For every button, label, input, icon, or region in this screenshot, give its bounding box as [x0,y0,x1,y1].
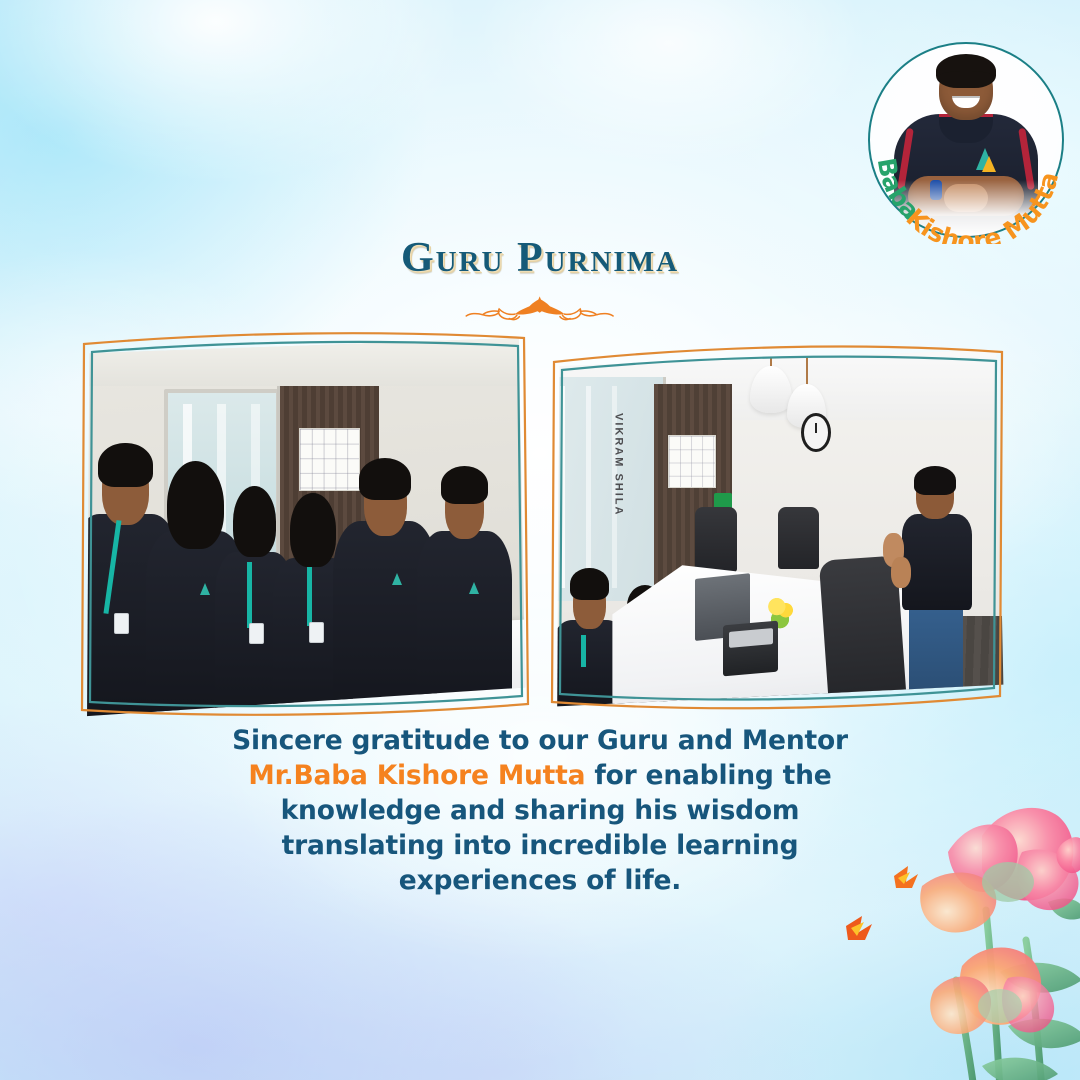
page-title: Guru Purnima [0,236,1080,280]
brand-logo-badge[interactable]: Baba Kishore Mutta [868,42,1064,238]
poster-canvas: Baba Kishore Mutta Guru Purnima [0,0,1080,1080]
caption-mentor-name: Mr.Baba Kishore Mutta [248,760,585,791]
butterfly-icon-1 [894,866,918,888]
logo-curved-name-text: Baba Kishore Mutta [862,36,1070,244]
photo-right-frame [548,348,1008,710]
caption-line-1: Sincere gratitude to our Guru and Mentor [130,724,950,759]
title-block: Guru Purnima [0,236,1080,333]
butterfly-icon-2 [846,916,872,940]
photo-left-frame [78,336,530,718]
watercolor-flowers-decoration [786,790,1080,1080]
flower-secondary [930,947,1054,1034]
lotus-flourish-divider-icon [432,290,647,328]
photo-card-right[interactable]: VIKRAM SHILA [548,348,1008,710]
photo-card-left[interactable] [78,336,530,718]
logo-name-rest: Kishore Mutta [901,169,1065,244]
flower-primary [920,808,1078,933]
caption-line-2-rest: for enabling the [585,760,831,791]
caption-line-2: Mr.Baba Kishore Mutta for enabling the [130,759,950,794]
